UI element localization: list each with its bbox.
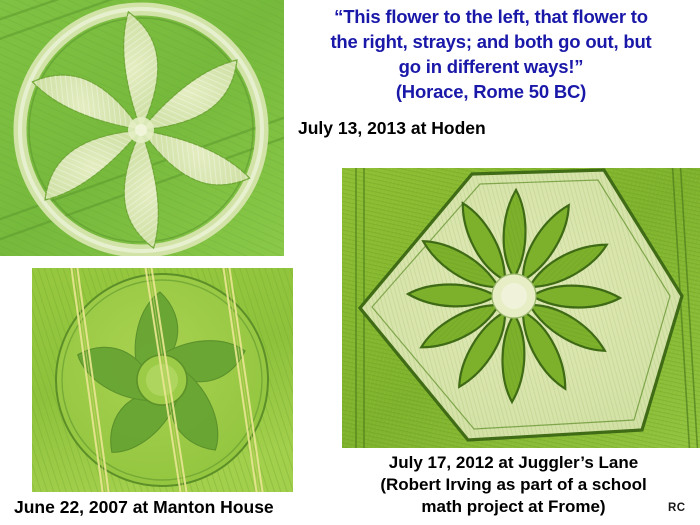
crop-circle-manton-house-photo xyxy=(32,268,293,492)
caption-jugglers-line-3: math project at Frome) xyxy=(341,496,686,518)
crop-circle-jugglers-lane-photo xyxy=(342,168,700,448)
jugglers-image-graphic xyxy=(342,168,700,448)
watermark-rc: RC xyxy=(668,502,685,514)
quote-line-3: go in different ways!” xyxy=(282,54,700,79)
caption-jugglers-line-1: July 17, 2012 at Juggler’s Lane xyxy=(341,452,686,474)
horace-quote: “This flower to the left, that flower to… xyxy=(282,4,700,104)
quote-attribution: (Horace, Rome 50 BC) xyxy=(282,79,700,104)
manton-image-graphic xyxy=(32,268,293,492)
caption-hoden: July 13, 2013 at Hoden xyxy=(298,117,486,139)
slide-canvas: “This flower to the left, that flower to… xyxy=(0,0,700,525)
quote-line-2: the right, strays; and both go out, but xyxy=(282,29,700,54)
caption-jugglers-lane: July 17, 2012 at Juggler’s Lane (Robert … xyxy=(341,452,686,518)
crop-circle-hoden-photo xyxy=(0,0,284,256)
quote-line-1: “This flower to the left, that flower to xyxy=(282,4,700,29)
hoden-image-graphic xyxy=(0,0,284,256)
caption-manton-house: June 22, 2007 at Manton House xyxy=(14,496,274,518)
caption-jugglers-line-2: (Robert Irving as part of a school xyxy=(341,474,686,496)
